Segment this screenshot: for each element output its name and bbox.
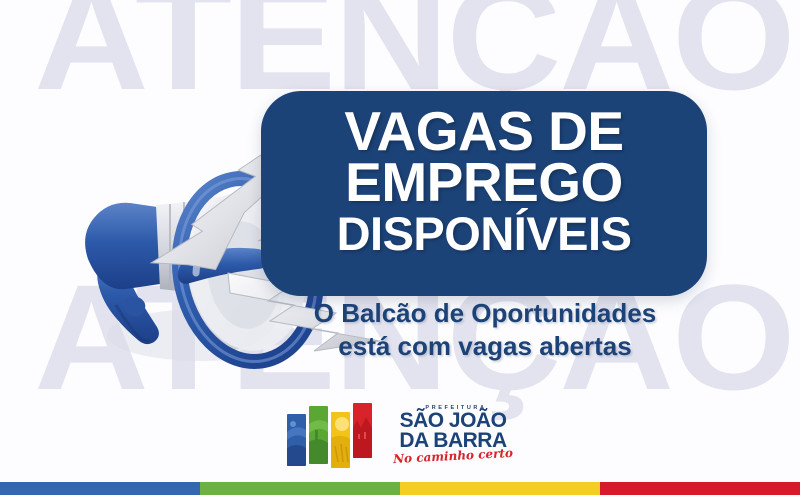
logo-city-line-1: SÃO JOÃO: [389, 411, 517, 431]
logo-panels: [285, 402, 381, 468]
subtitle-block: O Balcão de Oportunidades está com vagas…: [255, 297, 715, 363]
headline-line-3: DISPONÍVEIS: [261, 211, 707, 257]
city-logo: PREFEITURA SÃO JOÃO DA BARRA No caminho …: [285, 402, 515, 470]
bar-blue: [0, 482, 200, 495]
headline-line-2: EMPREGO: [261, 156, 707, 209]
panel-green: [309, 406, 328, 464]
panel-red: [353, 403, 372, 458]
headline-line-1: VAGAS DE: [261, 105, 707, 158]
panel-yellow: [331, 412, 350, 468]
poster-canvas: ATENÇÃO ATENÇÃO: [0, 0, 800, 495]
subtitle-line-2: está com vagas abertas: [255, 330, 715, 363]
bar-yellow: [400, 482, 600, 495]
watermark-text-top: ATENÇÃO: [34, 0, 794, 99]
bar-red: [600, 482, 800, 495]
panel-blue: [287, 414, 306, 466]
bar-green: [200, 482, 400, 495]
subtitle-line-1: O Balcão de Oportunidades: [255, 297, 715, 330]
headline-group: VAGAS DE EMPREGO DISPONÍVEIS: [261, 105, 707, 256]
headline-badge: VAGAS DE EMPREGO DISPONÍVEIS: [261, 91, 707, 296]
logo-text-block: PREFEITURA SÃO JOÃO DA BARRA No caminho …: [389, 405, 517, 463]
bottom-color-bar: [0, 482, 800, 495]
